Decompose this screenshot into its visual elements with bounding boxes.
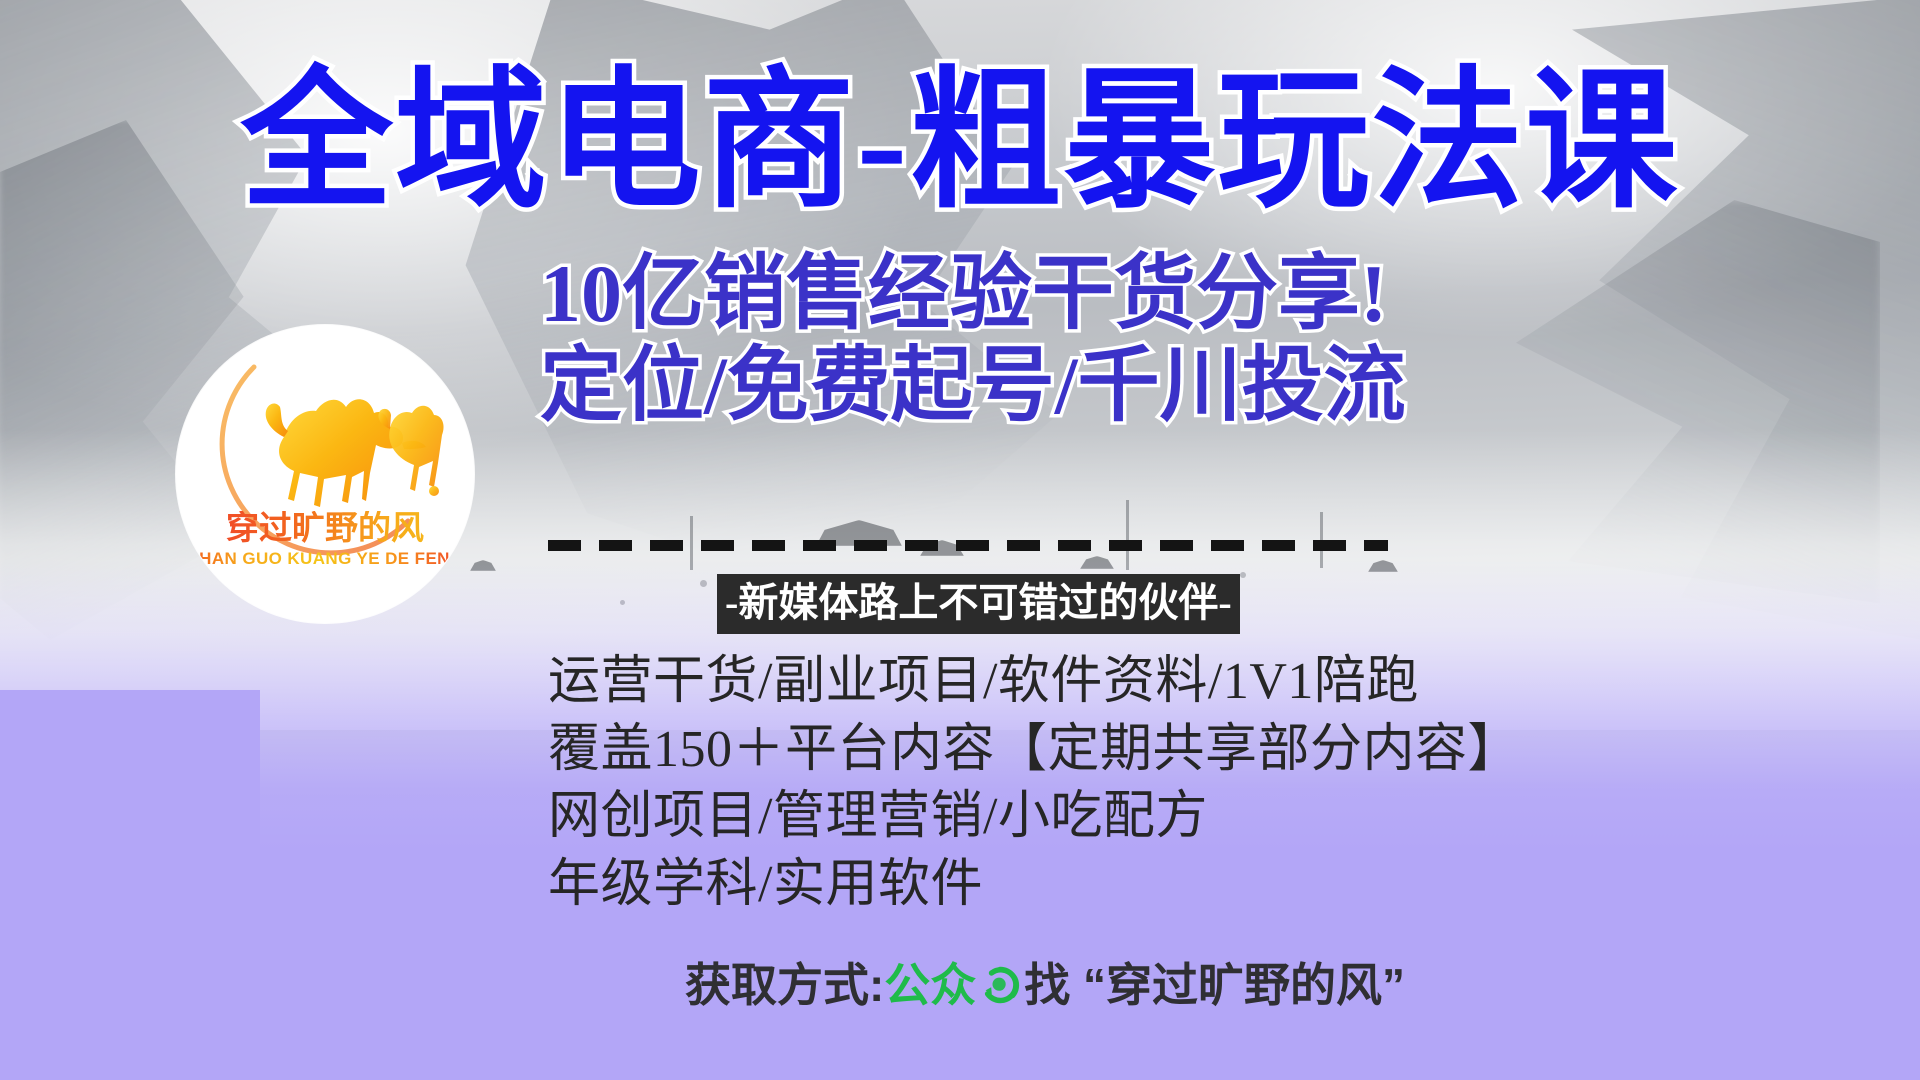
logo-brand-pinyin: +CHAN GUO KUANG YE DE FENG+: [176, 550, 474, 567]
brand-logo-badge: 穿过旷野的风 +CHAN GUO KUANG YE DE FENG+: [176, 325, 474, 623]
promo-poster: 全域电商-粗暴玩法课 10亿销售经验干货分享! 定位/免费起号/千川投流 -新媒…: [0, 0, 1920, 1080]
offer-list-item: 年级学科/实用软件: [548, 851, 1868, 919]
offer-list-item: 网创项目/管理营销/小吃配方: [548, 783, 1868, 851]
poster-subtitle-line-1: 10亿销售经验干货分享!: [540, 248, 1900, 340]
poster-subtitle-group: 10亿销售经验干货分享! 定位/免费起号/千川投流: [540, 248, 1900, 432]
offer-list-item: 运营干货/副业项目/软件资料/1V1陪跑: [548, 648, 1868, 716]
tagline-banner: -新媒体路上不可错过的伙伴-: [717, 574, 1240, 634]
offer-list: 运营干货/副业项目/软件资料/1V1陪跑 覆盖150＋平台内容【定期共享部分内容…: [548, 648, 1868, 918]
offer-list-item: 覆盖150＋平台内容【定期共享部分内容】: [548, 716, 1868, 784]
cta-prefix-label: 获取方式:: [685, 959, 884, 1011]
dashed-divider: [548, 540, 1388, 551]
poster-subtitle-line-2: 定位/免费起号/千川投流: [540, 340, 1900, 432]
poster-title: 全域电商-粗暴玩法课: [0, 66, 1920, 218]
call-to-action: 获取方式:公众找 “穿过旷野的风”: [0, 962, 1920, 1008]
logo-brand-name: 穿过旷野的风: [176, 511, 474, 544]
lavender-left-panel: [0, 690, 260, 1080]
wechat-icon: [978, 963, 1022, 1007]
camel-caravan-icon: [176, 325, 474, 623]
cta-suffix-label: 找 “穿过旷野的风”: [1024, 959, 1405, 1011]
cta-highlight-label: 公众: [884, 959, 976, 1011]
